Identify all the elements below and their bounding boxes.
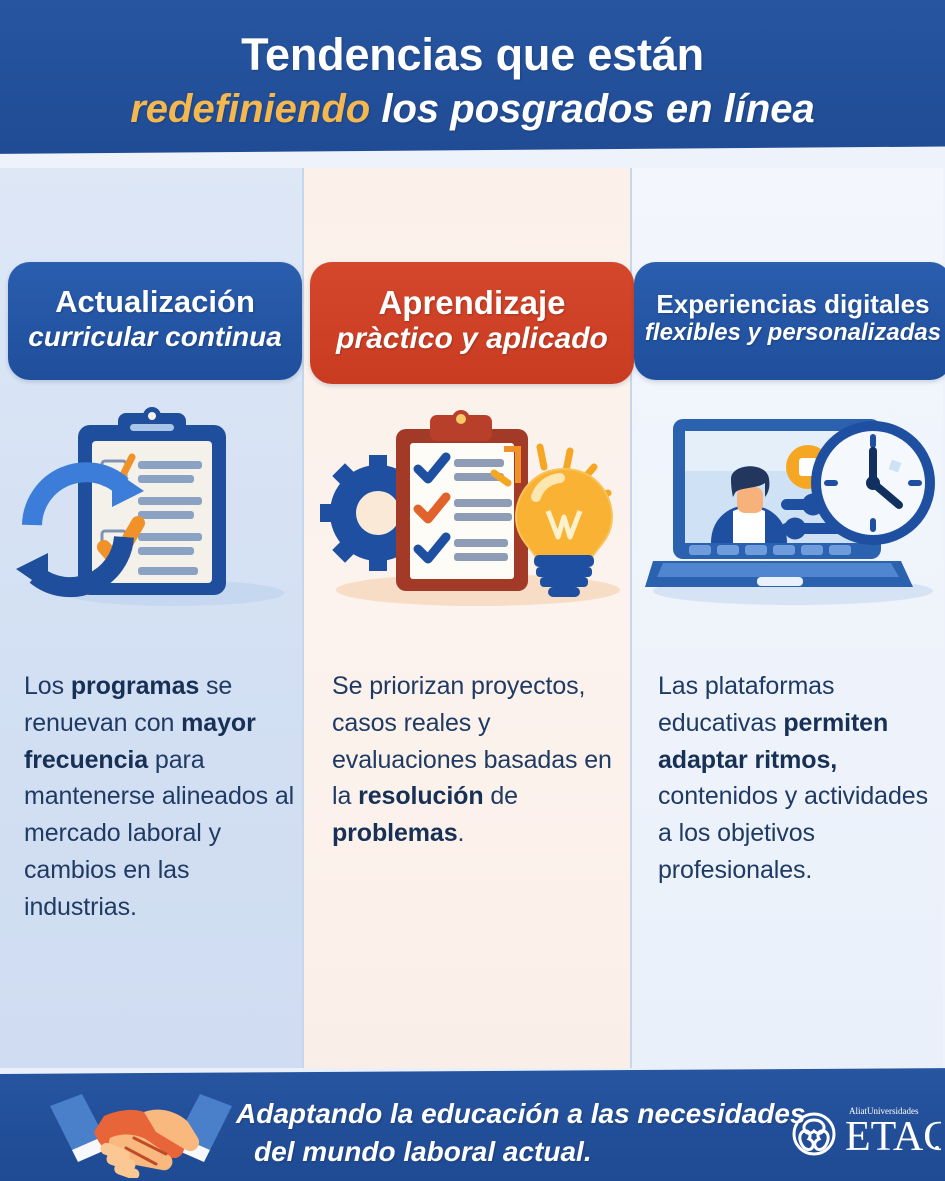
title-line-1: Tendencias que están <box>241 31 704 78</box>
card-title-top-2: Aprendizaje <box>378 285 565 322</box>
illustration-2 <box>306 400 636 615</box>
header-band: Tendencias que están redefiniendo los po… <box>0 0 945 178</box>
text-run-bold: problemas <box>332 819 458 847</box>
handshake-icon <box>48 1088 234 1178</box>
gear-clipboard-lightbulb-icon <box>318 405 624 611</box>
card-header-1[interactable]: Actualización curricular continua <box>8 262 302 380</box>
text-run: . <box>458 819 465 847</box>
text-run: Los <box>24 672 71 700</box>
title-line-2: redefiniendo los posgrados en línea <box>130 84 815 134</box>
text-run-bold: mundo <box>302 1136 395 1167</box>
column-body-2: Se priorizan proyectos, casos reales y e… <box>332 668 612 852</box>
card-header-2[interactable]: Aprendizaje pràctico y aplicado <box>310 262 634 384</box>
column-body-3: Las plataformas educativas permiten adap… <box>658 668 940 889</box>
card-header-3[interactable]: Experiencias digitales flexibles y perso… <box>634 262 945 380</box>
card-title-top-3: Experiencias digitales <box>656 290 929 319</box>
illustration-1 <box>6 400 302 615</box>
text-run: laboral actual. <box>396 1136 592 1167</box>
footer-band: Adaptando la educación a las necesidades… <box>0 1068 945 1181</box>
body-area: Actualización curricular continua Aprend… <box>0 168 945 1070</box>
aliat-pinwheel-icon <box>794 1114 834 1154</box>
title-line-2-rest: los posgrados en línea <box>370 87 815 131</box>
footer-message: Adaptando la educación a las necesidades… <box>236 1088 826 1178</box>
card-title-top-1: Actualización <box>55 285 255 320</box>
footer-line-2: del mundo laboral actual. <box>236 1133 826 1171</box>
infographic-poster: Tendencias que están redefiniendo los po… <box>0 0 945 1181</box>
footer-line-1: Adaptando la educación a las necesidades <box>236 1095 826 1133</box>
text-run: contenidos y actividades a los objetivos… <box>658 782 928 884</box>
text-run-bold: resolución <box>358 782 483 810</box>
column-body-1: Los programas se renuevan con mayor frec… <box>24 668 296 925</box>
card-title-bottom-1: curricular continua <box>28 320 282 354</box>
card-title-bottom-3: flexibles y personalizadas <box>645 319 941 348</box>
card-title-bottom-2: pràctico y aplicado <box>336 321 608 357</box>
laptop-person-clock-icon <box>645 405 941 611</box>
etac-logo: AliatUniversidades ETAC <box>789 1098 941 1160</box>
text-run: del <box>254 1136 302 1167</box>
text-run-bold: programas <box>71 672 199 700</box>
logo-registered-mark <box>935 1146 939 1150</box>
illustration-3 <box>638 400 945 615</box>
clipboard-refresh-icon <box>14 403 294 613</box>
poster-title: Tendencias que están redefiniendo los po… <box>0 0 945 165</box>
text-run: de <box>484 782 518 810</box>
title-accent-word: redefiniendo <box>130 87 370 131</box>
logo-wordmark: ETAC <box>845 1114 941 1160</box>
